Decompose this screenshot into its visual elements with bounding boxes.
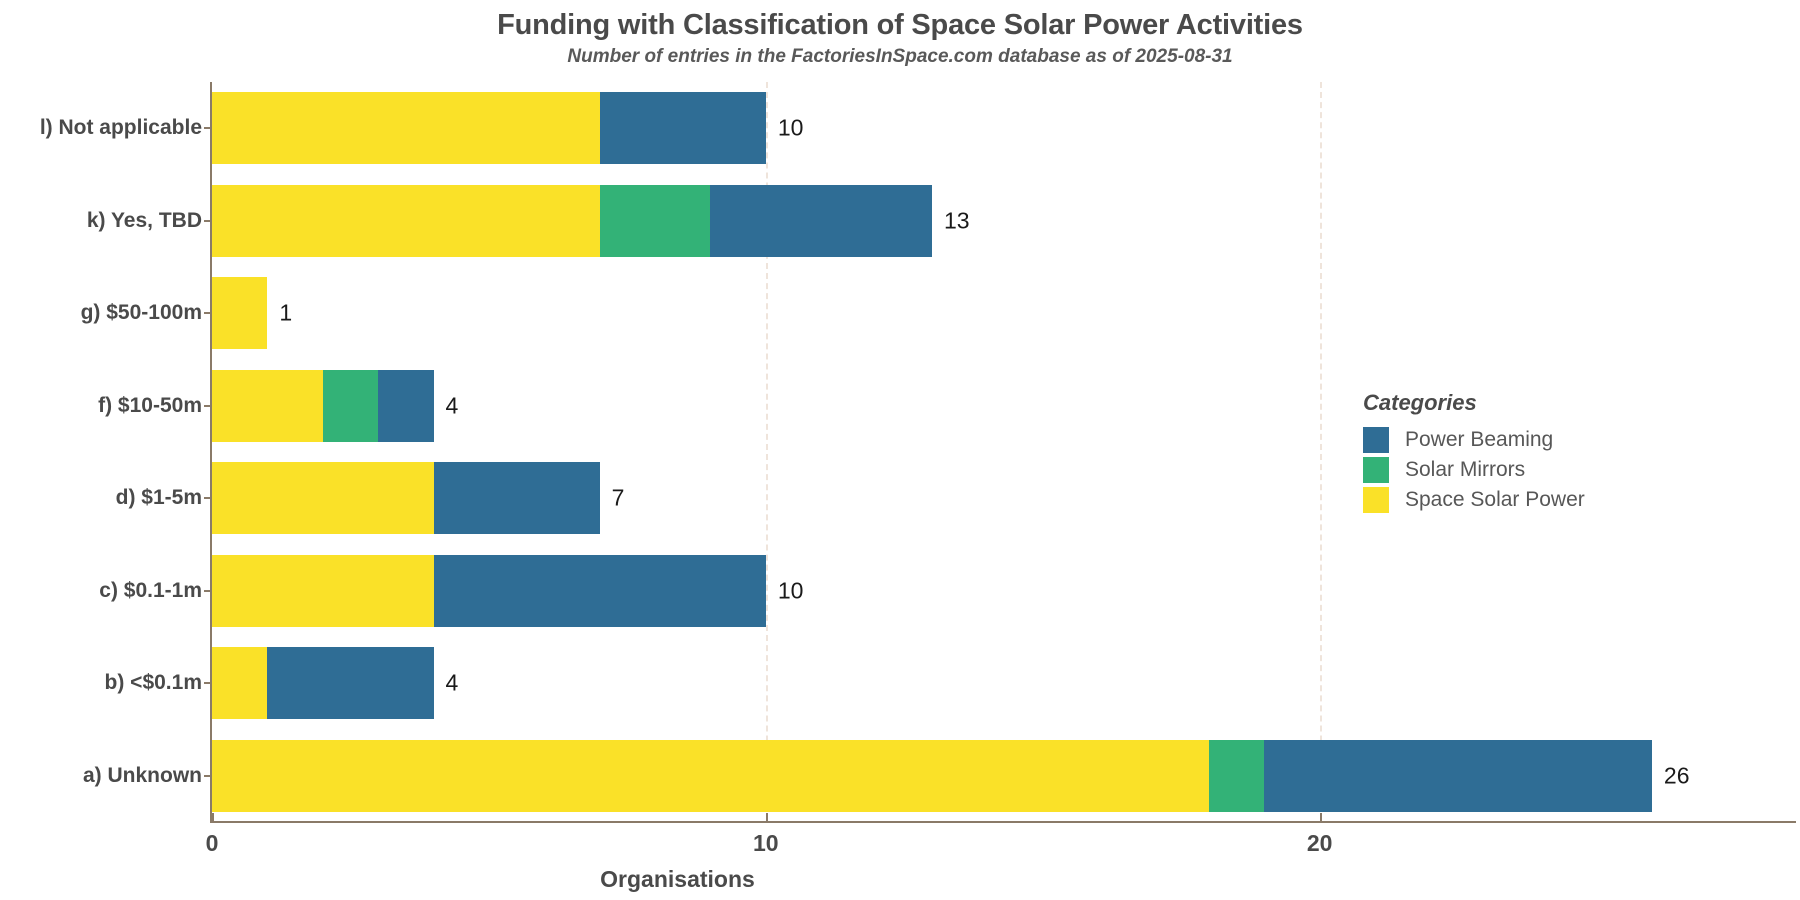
bar-row[interactable]: 4 <box>212 370 434 442</box>
bar-segment[interactable] <box>212 647 267 719</box>
y-axis-tick-label: k) Yes, TBD <box>87 209 202 233</box>
bar-total-label: 13 <box>944 207 970 234</box>
x-axis-tick-mark <box>1320 813 1322 822</box>
bar-segment[interactable] <box>212 185 600 257</box>
bar-total-label: 7 <box>612 485 625 512</box>
bar-total-label: 1 <box>279 300 292 327</box>
bar-row[interactable]: 1 <box>212 277 267 349</box>
bar-segment[interactable] <box>212 555 434 627</box>
bar-segment[interactable] <box>1209 740 1264 812</box>
legend-swatch-icon <box>1363 457 1389 483</box>
x-axis-tick-label: 10 <box>753 830 779 857</box>
bar-segment[interactable] <box>710 185 932 257</box>
legend-label: Solar Mirrors <box>1405 458 1525 482</box>
y-axis-tick-label: c) $0.1-1m <box>99 579 202 603</box>
bar-segment[interactable] <box>1264 740 1652 812</box>
bar-total-label: 26 <box>1664 762 1690 789</box>
bar-segment[interactable] <box>267 647 433 719</box>
chart-title: Funding with Classification of Space Sol… <box>0 8 1800 42</box>
legend-label: Space Solar Power <box>1405 488 1585 512</box>
y-axis-tick-label: l) Not applicable <box>40 116 202 140</box>
legend-title: Categories <box>1363 390 1763 416</box>
x-axis-title: Organisations <box>0 866 1355 893</box>
legend-label: Power Beaming <box>1405 428 1553 452</box>
x-axis-tick-mark <box>212 813 214 822</box>
chart-subtitle: Number of entries in the FactoriesInSpac… <box>0 44 1800 70</box>
bar-segment[interactable] <box>212 462 434 534</box>
legend-item[interactable]: Solar Mirrors <box>1363 455 1763 485</box>
y-axis-tick-label: g) $50-100m <box>81 301 202 325</box>
bar-row[interactable]: 7 <box>212 462 600 534</box>
y-axis-labels: l) Not applicablek) Yes, TBDg) $50-100mf… <box>0 82 212 822</box>
legend-swatch-icon <box>1363 427 1389 453</box>
bar-segment[interactable] <box>600 185 711 257</box>
bar-total-label: 4 <box>446 392 459 419</box>
y-axis-tick-label: d) $1-5m <box>116 486 202 510</box>
bar-row[interactable]: 10 <box>212 92 766 164</box>
legend-item[interactable]: Space Solar Power <box>1363 485 1763 515</box>
x-axis-tick-mark <box>766 813 768 822</box>
title-block: Funding with Classification of Space Sol… <box>0 0 1800 70</box>
bar-segment[interactable] <box>212 370 323 442</box>
x-axis-tick-label: 20 <box>1307 830 1333 857</box>
x-axis-tick-label: 0 <box>206 830 219 857</box>
bar-segment[interactable] <box>212 740 1209 812</box>
legend: Categories Power BeamingSolar MirrorsSpa… <box>1363 390 1763 515</box>
bar-row[interactable]: 4 <box>212 647 434 719</box>
bar-segment[interactable] <box>212 92 600 164</box>
bar-segment[interactable] <box>212 277 267 349</box>
chart-container: Funding with Classification of Space Sol… <box>0 0 1800 900</box>
y-axis-tick-label: a) Unknown <box>83 764 202 788</box>
legend-swatch-icon <box>1363 487 1389 513</box>
bar-segment[interactable] <box>378 370 433 442</box>
bar-segment[interactable] <box>434 555 766 627</box>
legend-items: Power BeamingSolar MirrorsSpace Solar Po… <box>1363 425 1763 515</box>
bar-total-label: 10 <box>778 115 804 142</box>
bar-total-label: 10 <box>778 577 804 604</box>
y-axis-tick-label: b) <$0.1m <box>105 671 202 695</box>
bar-segment[interactable] <box>434 462 600 534</box>
bar-row[interactable]: 26 <box>212 740 1652 812</box>
legend-item[interactable]: Power Beaming <box>1363 425 1763 455</box>
bar-segment[interactable] <box>323 370 378 442</box>
bar-row[interactable]: 13 <box>212 185 932 257</box>
bar-segment[interactable] <box>600 92 766 164</box>
bar-total-label: 4 <box>446 670 459 697</box>
bar-row[interactable]: 10 <box>212 555 766 627</box>
y-axis-tick-label: f) $10-50m <box>98 394 202 418</box>
x-axis-ticks: 01020 <box>212 822 1735 862</box>
